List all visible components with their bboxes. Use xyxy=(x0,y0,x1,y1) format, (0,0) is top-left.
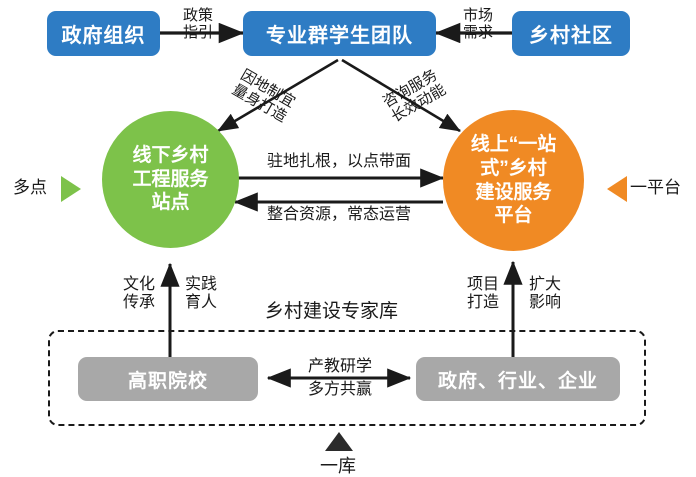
diagram-canvas: 政府组织 专业群学生团队 乡村社区 政策 指引 市场 需求 因地制宜 量身打造 … xyxy=(0,0,696,477)
edge-label-culture-inherit: 文化 传承 xyxy=(113,276,165,313)
left-triangle-icon xyxy=(61,176,81,202)
side-marker-right-label: 一平台 xyxy=(630,173,681,198)
node-online-platform-label: 线上“一站 式”乡村 建设服务 平台 xyxy=(465,133,563,228)
node-gov-industry-enterprise-label: 政府、行业、企业 xyxy=(438,366,598,393)
node-online-platform[interactable]: 线上“一站 式”乡村 建设服务 平台 xyxy=(443,110,584,251)
bottom-caption: 一库 xyxy=(320,452,356,477)
bottom-triangle-icon xyxy=(325,432,353,451)
edge-label-integrate-resources: 整合资源，常态运营 xyxy=(244,206,434,224)
edge-label-industry-education: 产教研学 多方共赢 xyxy=(290,355,390,401)
edge-label-policy-guidance: 政策 指引 xyxy=(168,8,228,43)
right-triangle-icon xyxy=(607,176,627,202)
expert-library-caption: 乡村建设专家库 xyxy=(258,296,405,323)
edge-label-consulting-service: 咨询服务 长效动能 xyxy=(367,60,462,135)
edge-label-practice-education: 实践 育人 xyxy=(175,276,227,313)
node-rural-community[interactable]: 乡村社区 xyxy=(512,11,630,56)
node-student-team[interactable]: 专业群学生团队 xyxy=(243,11,436,56)
node-gov-org[interactable]: 政府组织 xyxy=(47,11,160,56)
node-vocational-college[interactable]: 高职院校 xyxy=(78,357,258,401)
side-marker-left-label: 多点 xyxy=(13,173,47,198)
edge-label-local-conditions: 因地制宜 量身打造 xyxy=(215,60,310,135)
node-offline-station-label: 线下乡村 工程服务 站点 xyxy=(126,144,214,215)
node-gov-industry-enterprise[interactable]: 政府、行业、企业 xyxy=(416,357,620,401)
node-rural-community-label: 乡村社区 xyxy=(529,19,613,48)
node-gov-org-label: 政府组织 xyxy=(62,19,146,48)
node-offline-station[interactable]: 线下乡村 工程服务 站点 xyxy=(102,111,239,248)
node-student-team-label: 专业群学生团队 xyxy=(266,19,413,48)
edge-label-expand-influence: 扩大 影响 xyxy=(519,276,571,313)
edge-label-project-build: 项目 打造 xyxy=(457,276,509,313)
edge-label-station-rooted: 驻地扎根，以点带面 xyxy=(244,153,434,171)
node-vocational-college-label: 高职院校 xyxy=(128,366,208,393)
edge-label-market-demand: 市场 需求 xyxy=(448,8,508,43)
